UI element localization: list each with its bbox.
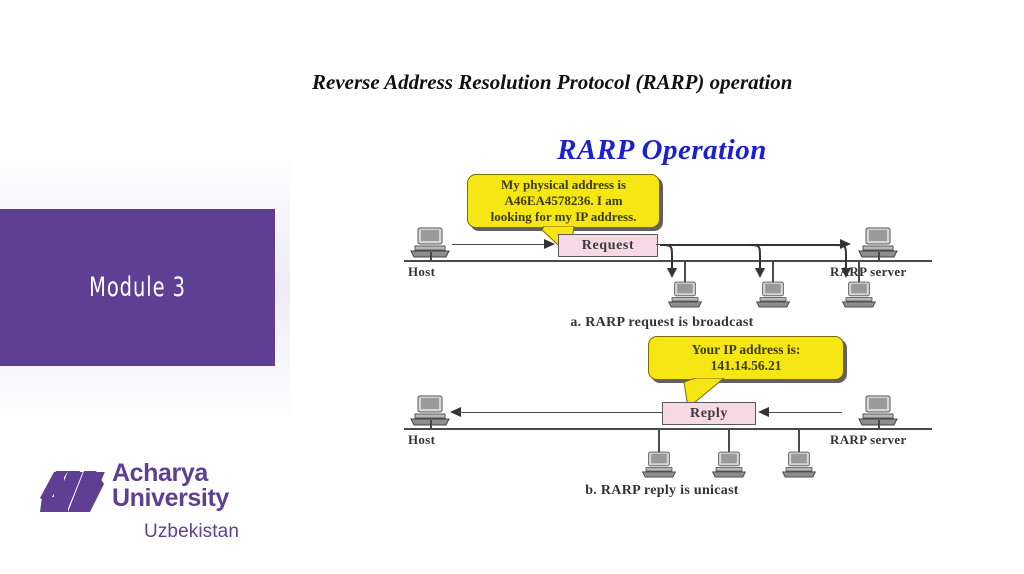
server-b-drop-line	[878, 420, 880, 430]
callout-b-line2: 141.14.56.21	[711, 358, 782, 373]
computer-node-b2-icon	[710, 450, 748, 480]
message-box-reply-label: Reply	[690, 406, 728, 422]
figure-heading: Reverse Address Resolution Protocol (RAR…	[312, 70, 1012, 95]
computer-node-a2-icon	[754, 280, 792, 310]
message-box-request: Request	[558, 234, 658, 257]
figure-area: Reverse Address Resolution Protocol (RAR…	[300, 0, 1024, 574]
caption-diagram-b: b. RARP reply is unicast	[300, 483, 1024, 499]
message-box-reply: Reply	[662, 402, 756, 425]
label-host-a: Host	[408, 264, 435, 280]
signal-server-to-reply	[766, 412, 842, 413]
message-box-request-label: Request	[582, 238, 634, 254]
host-drop-a3	[858, 260, 860, 282]
server-a-drop-line	[878, 252, 880, 262]
label-rarp-server-b: RARP server	[830, 432, 907, 448]
bus-line-b	[404, 428, 932, 430]
left-branding-panel: Module 3 Acharya University Uz	[0, 0, 300, 574]
diagram-rarp-reply-unicast: Your IP address is: 141.14.56.21 Host	[300, 330, 1024, 505]
acharya-chevrons-mark-icon	[38, 464, 106, 519]
host-drop-b3	[798, 428, 800, 452]
signal-host-to-request	[452, 244, 548, 245]
computer-node-b1-icon	[640, 450, 678, 480]
logo-line-acharya: Acharya	[112, 461, 229, 486]
label-host-b: Host	[408, 432, 435, 448]
computer-node-b3-icon	[780, 450, 818, 480]
module-label: Module 3	[89, 272, 186, 303]
logo-wordmark: Acharya University	[112, 461, 229, 511]
callout-a-line2: A46EA4578236. I am	[504, 193, 622, 208]
computer-node-a1-icon	[666, 280, 704, 310]
host-drop-b2	[728, 428, 730, 452]
acharya-university-logo: Acharya University Uzbekistan	[38, 461, 288, 556]
callout-server-ip-address: Your IP address is: 141.14.56.21	[648, 336, 844, 380]
logo-line-university: University	[112, 486, 229, 511]
arrow-to-reply-icon	[756, 407, 770, 418]
caption-diagram-a: a. RARP request is broadcast	[300, 315, 1024, 331]
callout-a-line1: My physical address is	[501, 177, 626, 192]
host-drop-b1	[658, 428, 660, 452]
host-drop-a1	[684, 260, 686, 282]
host-b-drop-line	[430, 420, 432, 430]
signal-reply-to-host	[458, 412, 662, 413]
arrow-to-request-icon	[544, 239, 556, 250]
host-a-drop-line	[430, 252, 432, 262]
module-banner: Module 3	[0, 209, 275, 366]
computer-node-a3-icon	[840, 280, 878, 310]
logo-subtitle-uzbekistan: Uzbekistan	[144, 521, 239, 543]
diagram-rarp-request-broadcast: My physical address is A46EA4578236. I a…	[300, 160, 1024, 335]
callout-a-line3: looking for my IP address.	[491, 209, 637, 224]
callout-b-line1: Your IP address is:	[692, 342, 801, 357]
callout-host-physical-address: My physical address is A46EA4578236. I a…	[467, 174, 660, 228]
host-drop-a2	[772, 260, 774, 282]
